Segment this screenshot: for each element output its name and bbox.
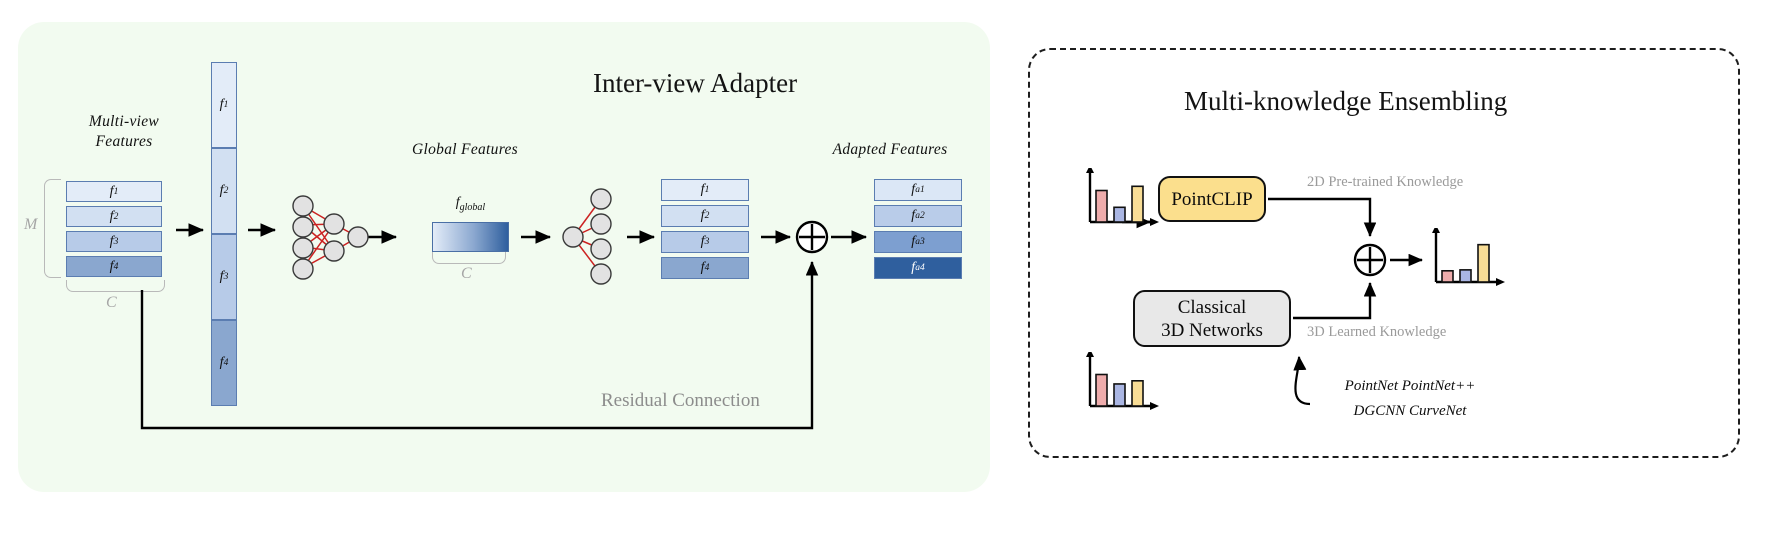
adapted-feature-4: fa4 — [874, 257, 962, 279]
concat-feature-2: f2 — [211, 148, 237, 234]
page-title-multi-knowledge-ensembling: Multi-knowledge Ensembling — [1184, 86, 1507, 117]
global-feature-label: fglobal — [432, 195, 509, 213]
bar-3 — [1132, 381, 1143, 406]
intermediate-feature-2: f2 — [661, 205, 749, 227]
bar-3 — [1478, 245, 1489, 282]
intermediate-feature-4: f4 — [661, 257, 749, 279]
caption-multi-view-features: Multi-view Features — [64, 112, 184, 152]
concat-feature-1: f1 — [211, 62, 237, 148]
bar-1 — [1442, 271, 1453, 282]
network-names-annotation: PointNet PointNet++ DGCNN CurveNet — [1300, 374, 1520, 424]
mini-bar-chart-pointclip-input — [1074, 168, 1166, 234]
brace-m — [44, 179, 61, 278]
mini-bar-chart-ensembled-output — [1420, 228, 1512, 294]
page-title-inter-view-adapter: Inter-view Adapter — [593, 68, 797, 99]
concat-feature-3: f3 — [211, 234, 237, 320]
bar-1 — [1096, 375, 1107, 407]
multi-view-feature-4: f4 — [66, 256, 162, 277]
bar-1 — [1096, 191, 1107, 223]
diagram-canvas: Inter-view Adapter Multi-view Features G… — [0, 0, 1766, 550]
multi-view-feature-3: f3 — [66, 231, 162, 252]
dim-label-c: C — [106, 294, 117, 312]
bar-2 — [1460, 270, 1471, 282]
global-feature-bar — [432, 222, 509, 252]
intermediate-feature-3: f3 — [661, 231, 749, 253]
intermediate-feature-1: f1 — [661, 179, 749, 201]
edge-label-2d-knowledge: 2D Pre-trained Knowledge — [1307, 174, 1463, 191]
dim-label-c-global: C — [461, 265, 472, 283]
brace-c — [66, 280, 165, 292]
residual-connection-label: Residual Connection — [601, 390, 760, 412]
mini-bar-chart-classical-input — [1074, 352, 1166, 418]
adapted-feature-1: fa1 — [874, 179, 962, 201]
adapted-feature-2: fa2 — [874, 205, 962, 227]
caption-adapted-features: Adapted Features — [800, 140, 980, 160]
classical-3d-networks-box[interactable]: Classical 3D Networks — [1133, 290, 1291, 347]
multi-view-feature-2: f2 — [66, 206, 162, 227]
bar-2 — [1114, 384, 1125, 406]
concat-feature-4: f4 — [211, 320, 237, 406]
bar-3 — [1132, 186, 1143, 222]
edge-label-3d-knowledge: 3D Learned Knowledge — [1307, 324, 1446, 341]
adapted-feature-3: fa3 — [874, 231, 962, 253]
pointclip-box[interactable]: PointCLIP — [1158, 176, 1266, 222]
brace-c-global — [432, 252, 506, 264]
caption-global-features: Global Features — [385, 140, 545, 160]
dim-label-m: M — [24, 216, 37, 234]
multi-view-feature-1: f1 — [66, 181, 162, 202]
bar-2 — [1114, 207, 1125, 222]
